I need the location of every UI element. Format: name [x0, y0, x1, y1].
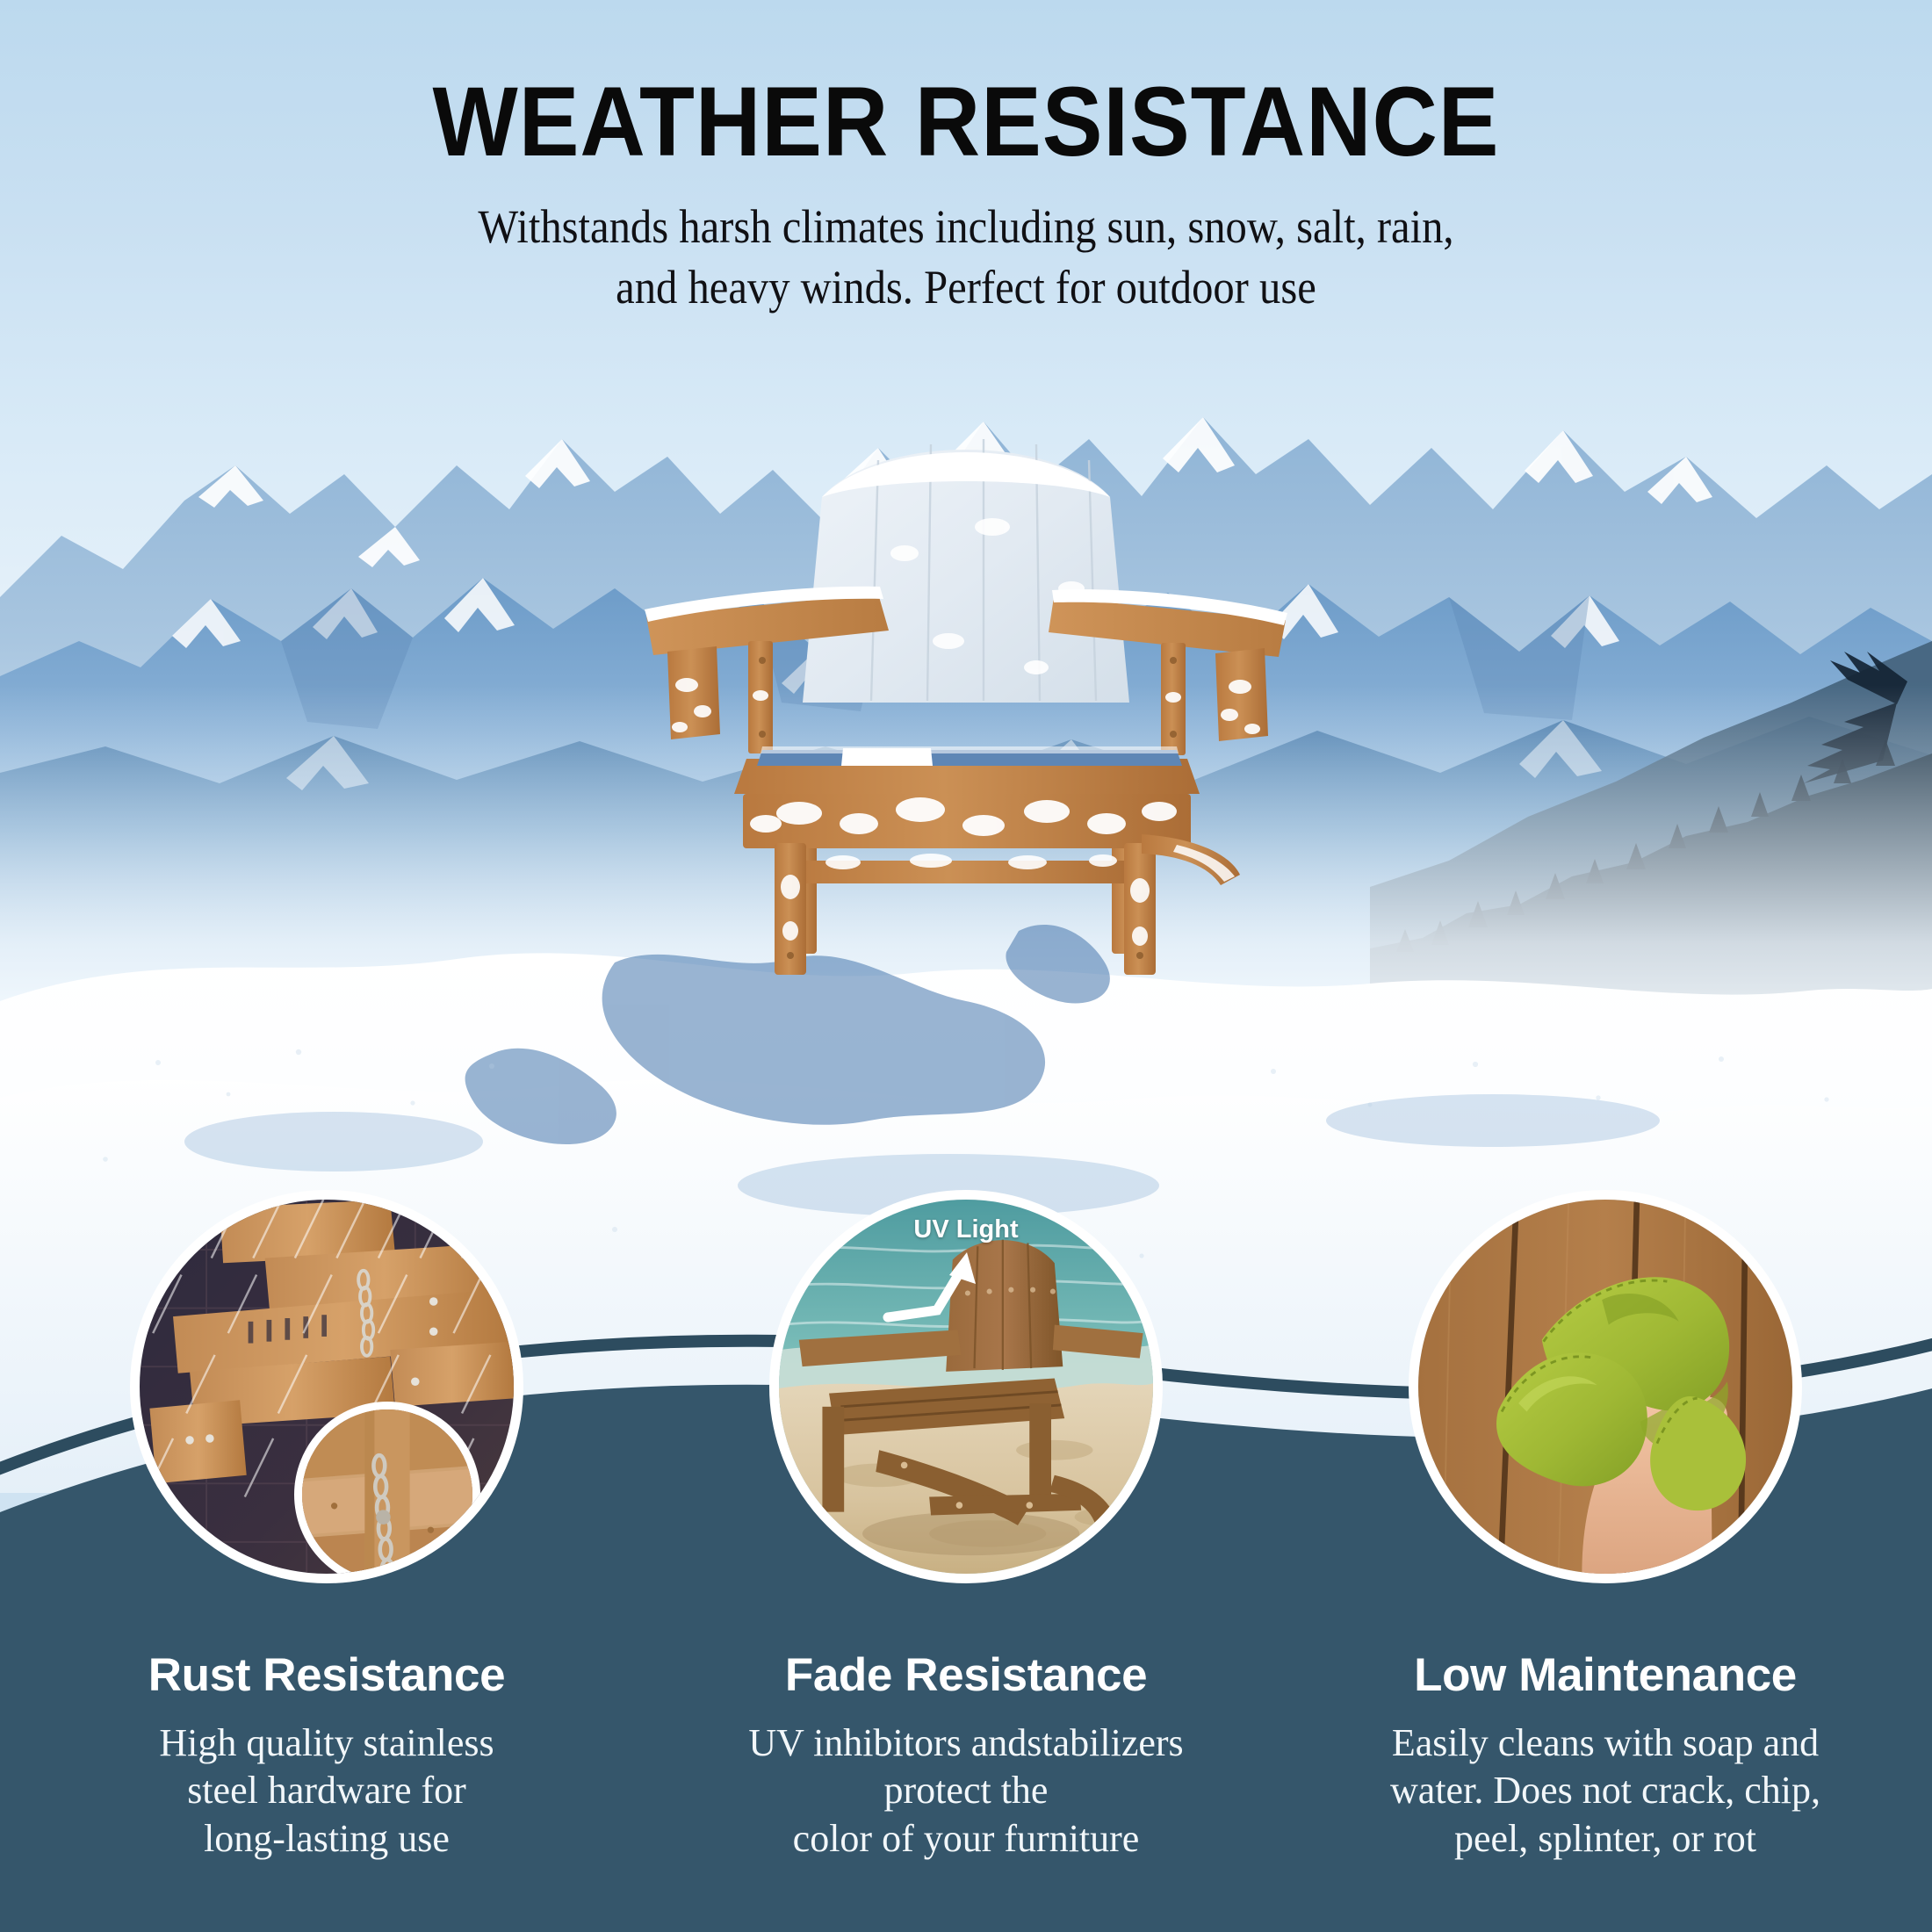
card-title-fade-resistance: Fade Resistance	[729, 1651, 1203, 1700]
card-body-fade-resistance: UV inhibitors andstabilizers protect the…	[729, 1719, 1203, 1864]
card-fade-resistance: Fade Resistance UV inhibitors andstabili…	[729, 1651, 1203, 1863]
card-title-low-maintenance: Low Maintenance	[1368, 1651, 1842, 1700]
card-title-rust-resistance: Rust Resistance	[90, 1651, 564, 1700]
card-rust-resistance: Rust Resistance High quality stainless s…	[90, 1651, 564, 1863]
uv-light-arrow-icon	[883, 1245, 1006, 1351]
card-body-low-maintenance: Easily cleans with soap and water. Does …	[1368, 1719, 1842, 1864]
card-body-line: water. Does not crack, chip,	[1368, 1767, 1842, 1815]
card-body-line: steel hardware for	[90, 1767, 564, 1815]
subtitle-line-1: Withstands harsh climates including sun,…	[97, 197, 1835, 257]
card-body-line: protect the	[729, 1767, 1203, 1815]
feature-image-rust-resistance	[130, 1190, 523, 1583]
infographic-root: WEATHER RESISTANCE Withstands harsh clim…	[0, 0, 1932, 1932]
page-subtitle: Withstands harsh climates including sun,…	[97, 197, 1835, 318]
card-body-rust-resistance: High quality stainless steel hardware fo…	[90, 1719, 564, 1864]
hero-snow-covered-chair	[615, 422, 1317, 984]
card-body-line: High quality stainless	[90, 1719, 564, 1768]
feature-image-fade-resistance: UV Light	[769, 1190, 1163, 1583]
uv-light-label: UV Light	[913, 1215, 1018, 1244]
card-body-line: long-lasting use	[90, 1815, 564, 1864]
card-body-line: color of your furniture	[729, 1815, 1203, 1864]
card-body-line: peel, splinter, or rot	[1368, 1815, 1842, 1864]
feature-circles: UV Light	[0, 1190, 1932, 1603]
card-low-maintenance: Low Maintenance Easily cleans with soap …	[1368, 1651, 1842, 1863]
card-body-line: UV inhibitors andstabilizers	[729, 1719, 1203, 1768]
page-title: WEATHER RESISTANCE	[77, 70, 1855, 174]
chain-closeup-illustration	[302, 1409, 472, 1580]
low-maintenance-illustration	[1418, 1200, 1792, 1574]
subtitle-line-2: and heavy winds. Perfect for outdoor use	[97, 257, 1835, 318]
card-body-line: Easily cleans with soap and	[1368, 1719, 1842, 1768]
feature-image-low-maintenance	[1409, 1190, 1802, 1583]
rust-resistance-inset-detail	[294, 1402, 480, 1583]
header-block: WEATHER RESISTANCE Withstands harsh clim…	[0, 70, 1932, 318]
